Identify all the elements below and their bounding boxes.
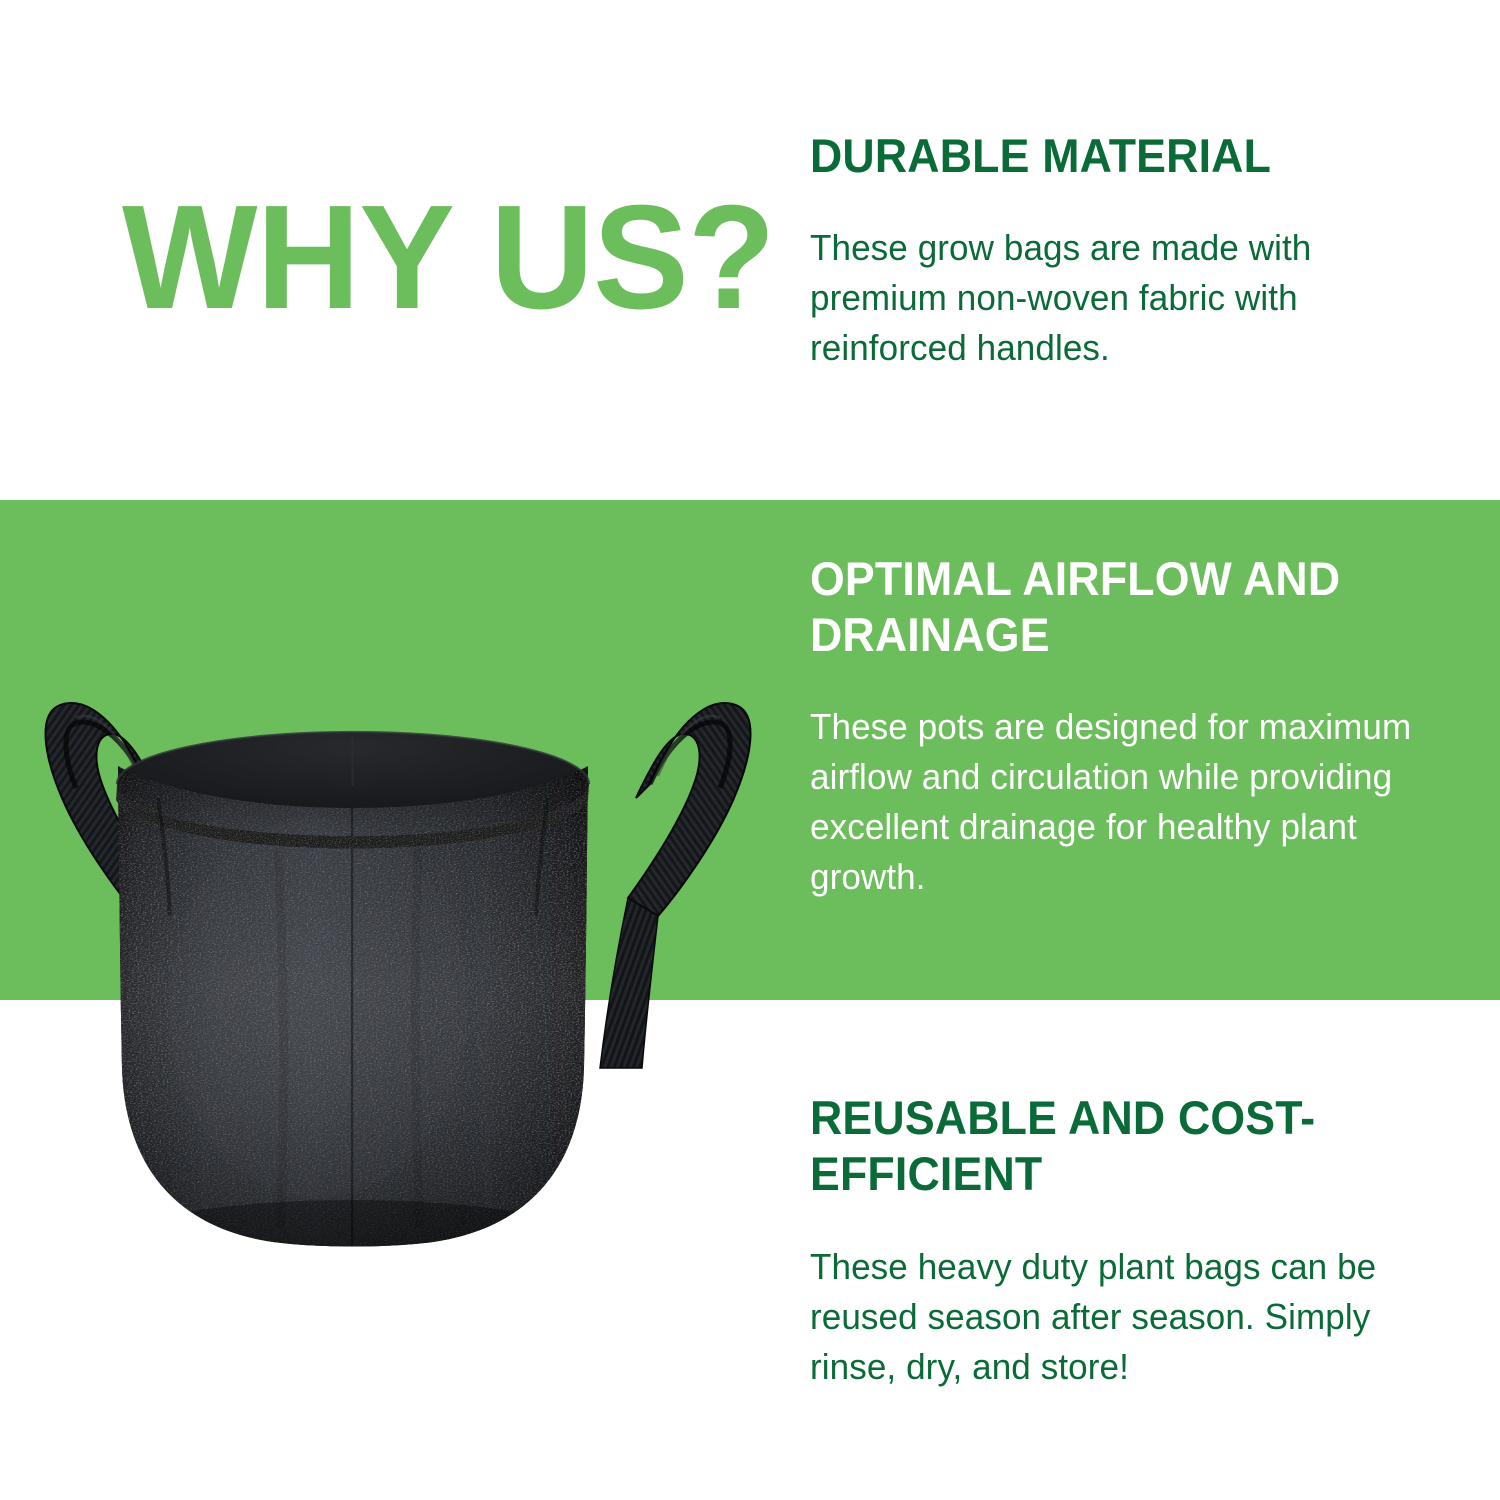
grow-bag-illustration xyxy=(18,648,778,1288)
feature-durable-material: DURABLE MATERIAL These grow bags are mad… xyxy=(810,128,1430,373)
feature-body: These pots are designed for maximum airf… xyxy=(810,702,1424,902)
infographic-page: WHY US? DURABLE MATERIAL These grow bags… xyxy=(0,0,1500,1500)
feature-heading: OPTIMAL AIRFLOW AND DRAINAGE xyxy=(810,551,1418,663)
feature-heading: REUSABLE AND COST-EFFICIENT xyxy=(810,1090,1409,1202)
page-title: WHY US? xyxy=(122,183,704,333)
right-handle-icon xyxy=(600,703,750,1068)
feature-reusable-and-cost-efficient: REUSABLE AND COST-EFFICIENT These heavy … xyxy=(810,1090,1440,1392)
feature-body: These heavy duty plant bags can be reuse… xyxy=(810,1242,1415,1392)
grow-bag-image xyxy=(18,648,778,1288)
feature-body: These grow bags are made with premium no… xyxy=(810,223,1405,373)
feature-heading: DURABLE MATERIAL xyxy=(810,128,1399,184)
feature-optimal-airflow-and-drainage: OPTIMAL AIRFLOW AND DRAINAGE These pots … xyxy=(810,551,1450,902)
